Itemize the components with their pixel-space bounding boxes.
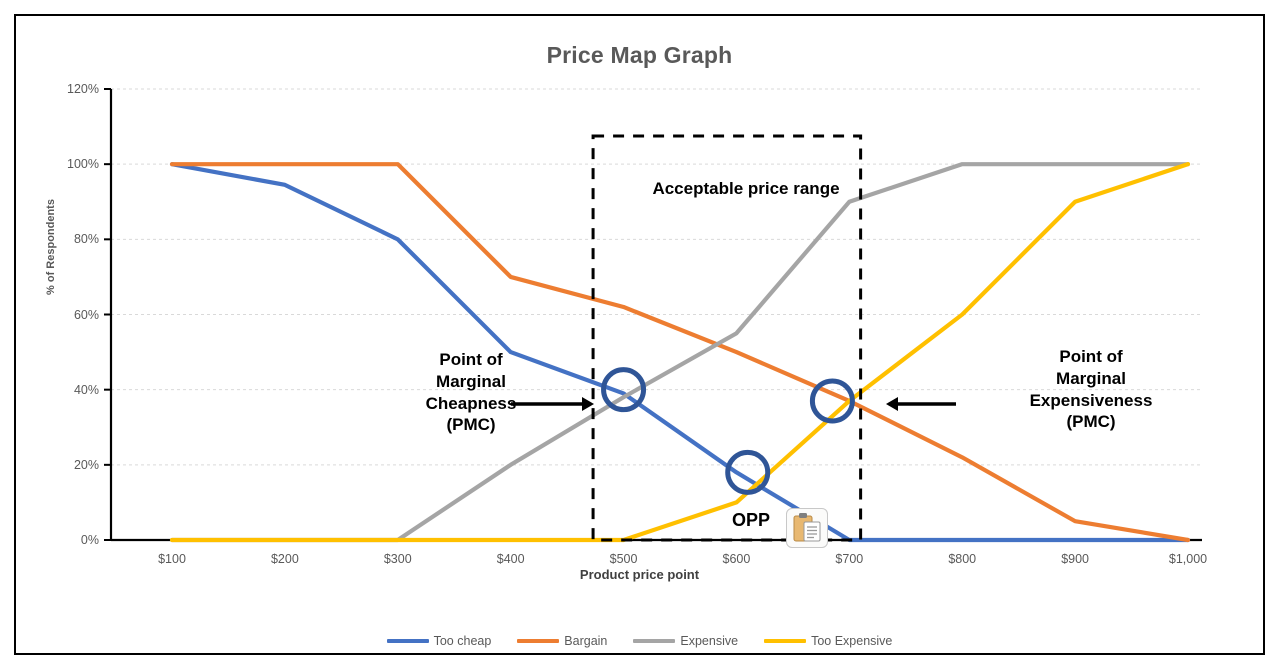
legend-label: Too cheap <box>434 634 492 648</box>
plot-area <box>16 16 1267 657</box>
optimal-price-point-label: OPP <box>732 510 770 531</box>
legend-label: Bargain <box>564 634 607 648</box>
legend-item-too-expensive[interactable]: Too Expensive <box>764 634 892 648</box>
annotation-arrows <box>511 397 956 411</box>
pmc-right-arrow-head <box>886 397 898 411</box>
legend-item-bargain[interactable]: Bargain <box>517 634 607 648</box>
chart-frame: Price Map Graph % of Respondents Product… <box>14 14 1265 655</box>
legend-swatch <box>764 639 806 643</box>
legend-swatch <box>517 639 559 643</box>
acceptable-price-range-label: Acceptable price range <box>616 179 876 199</box>
legend-item-expensive[interactable]: Expensive <box>633 634 738 648</box>
point-of-marginal-expensiveness-label: Point of Marginal Expensiveness (PMC) <box>976 346 1206 433</box>
legend-label: Too Expensive <box>811 634 892 648</box>
chart-legend: Too cheapBargainExpensiveToo Expensive <box>16 634 1263 648</box>
point-of-marginal-cheapness-label: Point of Marginal Cheapness (PMC) <box>386 349 556 436</box>
legend-label: Expensive <box>680 634 738 648</box>
legend-item-too-cheap[interactable]: Too cheap <box>387 634 492 648</box>
clipboard-paste-icon[interactable] <box>786 508 828 548</box>
gridlines <box>111 89 1202 540</box>
legend-swatch <box>633 639 675 643</box>
legend-swatch <box>387 639 429 643</box>
